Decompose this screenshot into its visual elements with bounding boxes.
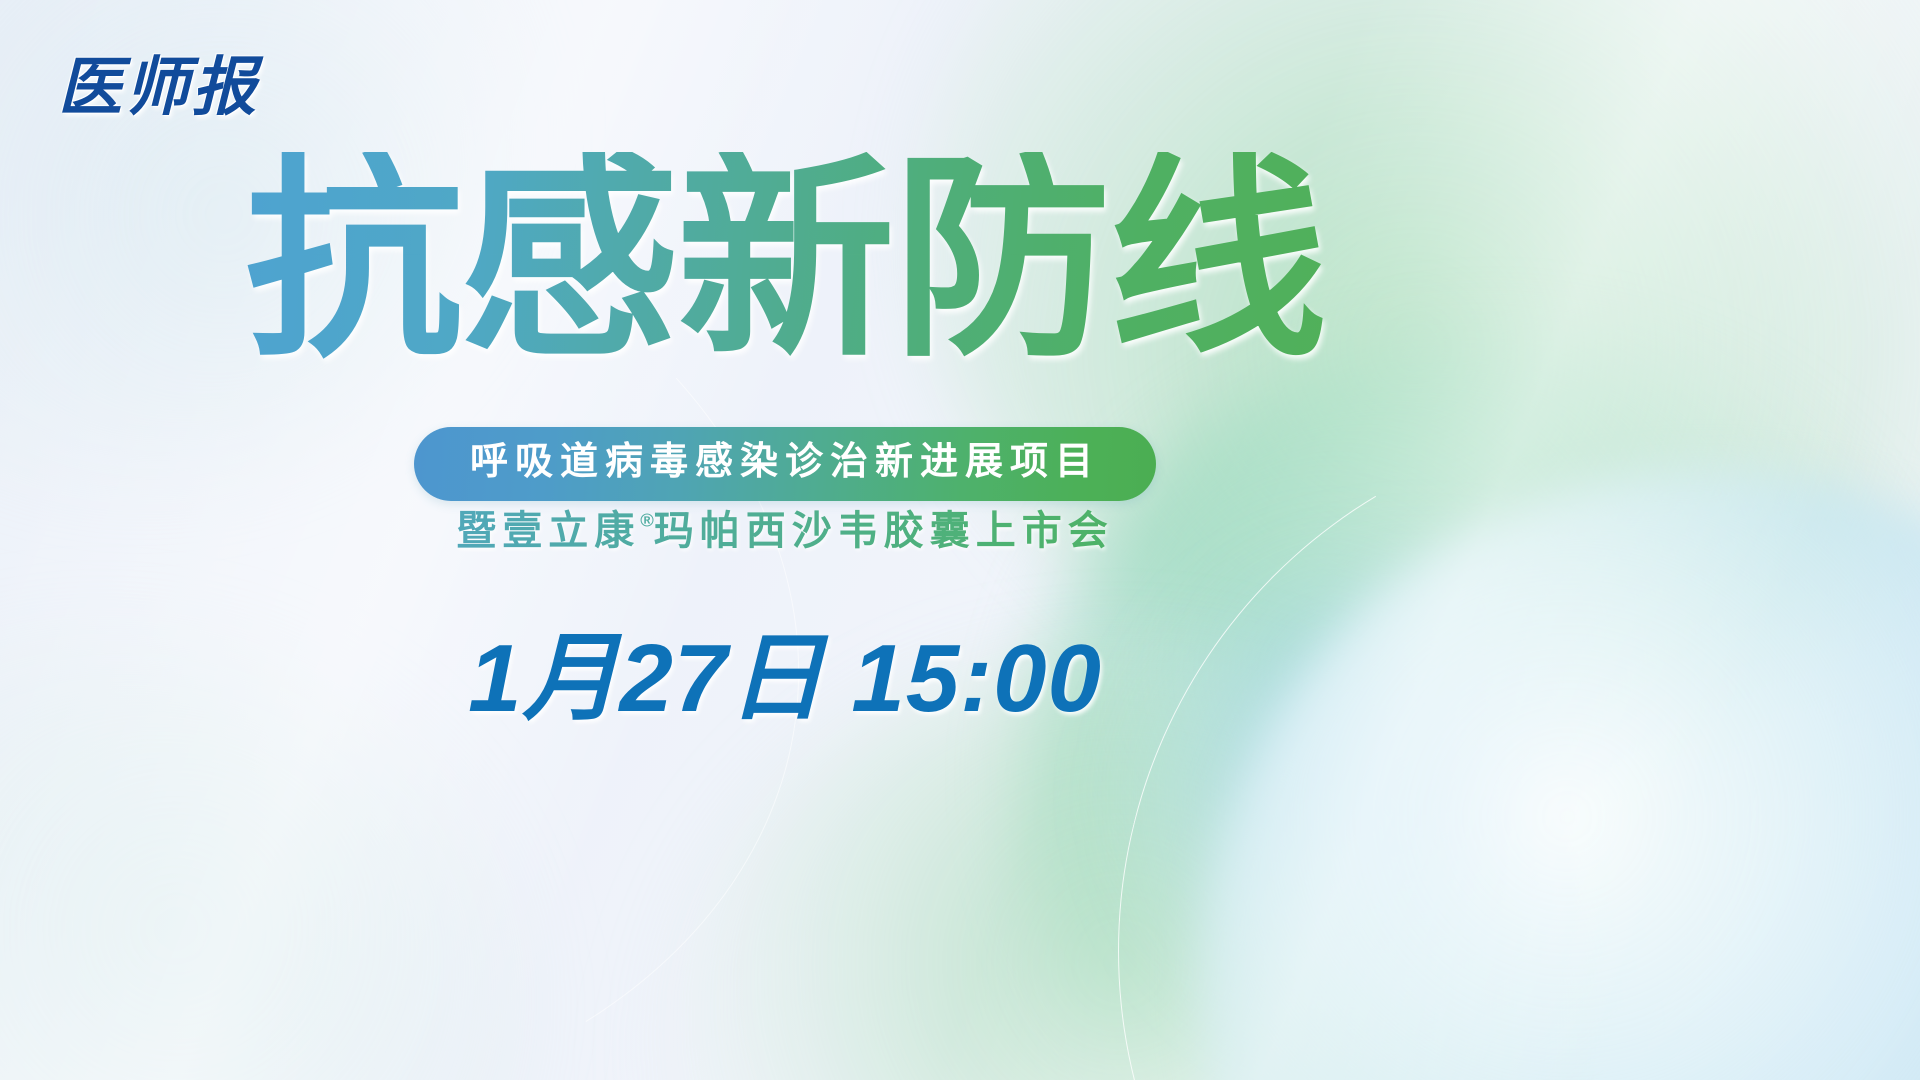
registered-trademark-icon: ® [640,510,654,531]
event-datetime: 1月27日15:00 [0,600,1570,739]
product-launch-line: 暨壹立康®玛帕西沙韦胶囊上市会 [0,498,1570,556]
program-banner: 呼吸道病毒感染诊治新进展项目 [0,427,1570,501]
publisher-logo: 医师报 [58,36,259,128]
product-launch-prefix: 暨壹立康 [456,509,640,553]
promo-poster: 医师报 抗感新防线 呼吸道病毒感染诊治新进展项目 暨壹立康®玛帕西沙韦胶囊上市会… [0,0,1920,1080]
program-banner-label: 呼吸道病毒感染诊治新进展项目 [414,427,1156,501]
poster-content: 医师报 抗感新防线 呼吸道病毒感染诊治新进展项目 暨壹立康®玛帕西沙韦胶囊上市会… [0,0,1920,1080]
product-launch-suffix: 玛帕西沙韦胶囊上市会 [654,509,1114,553]
event-date: 1月27日 [468,625,825,732]
page-title: 抗感新防线 [0,152,1570,370]
event-time: 15:00 [851,625,1102,732]
